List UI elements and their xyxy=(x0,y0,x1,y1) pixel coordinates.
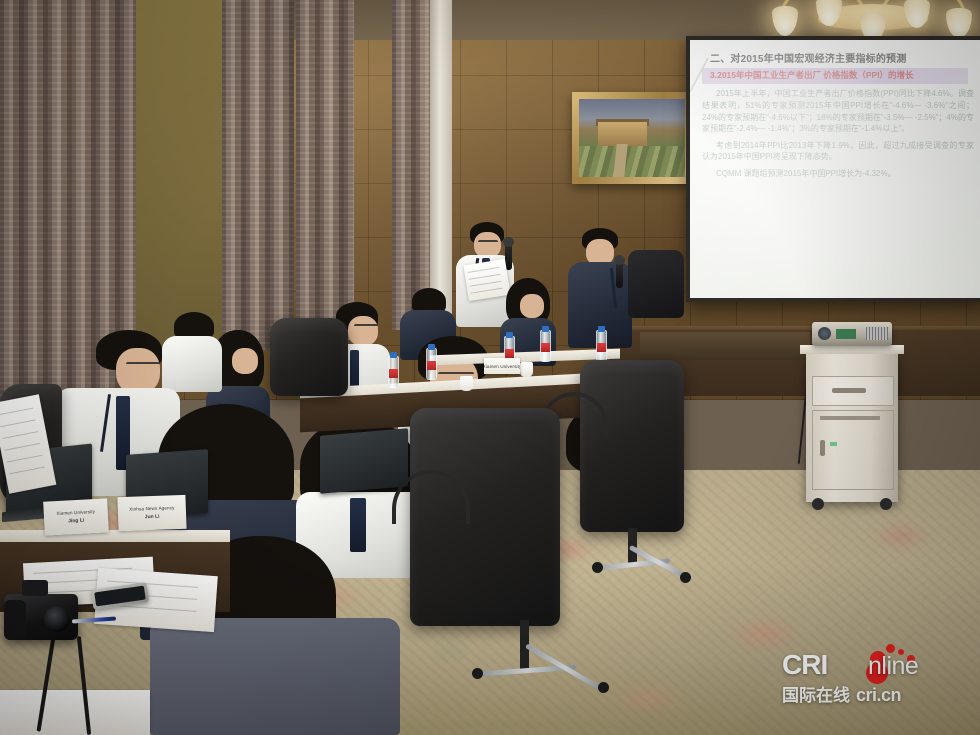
av-cart xyxy=(806,352,898,502)
curtain-middle-2 xyxy=(296,0,354,340)
conference-room-photo: 二、对2015年中国宏观经济主要指标的预测 3.2015年中国工业生产者出厂 价… xyxy=(0,0,980,735)
paper-cup xyxy=(520,362,533,377)
water-bottle xyxy=(596,330,607,362)
slide-heading: 二、对2015年中国宏观经济主要指标的预测 xyxy=(710,50,976,65)
slide-section-band: 3.2015年中国工业生产者出厂 价格指数（PPI）的增长 xyxy=(702,68,968,84)
chair-wheel xyxy=(598,682,609,693)
curtain-middle xyxy=(222,0,294,350)
chandelier-bulb xyxy=(946,8,972,38)
laptop[interactable] xyxy=(320,428,408,494)
desk-documents xyxy=(0,690,150,735)
framed-landscape-painting xyxy=(572,92,692,184)
slide-paragraph-3: CQMM 课题组预测2015年中国PPI增长为-4.32%。 xyxy=(702,168,974,180)
chair-wheel xyxy=(472,668,483,679)
chair-wheel xyxy=(680,572,691,583)
handheld-microphone[interactable] xyxy=(616,262,623,288)
namecard-name: Jing Li xyxy=(68,518,84,525)
namecard-rear: Xiamen University xyxy=(484,358,520,374)
chandelier-bulb xyxy=(772,6,798,36)
namecard-xiamen-university: Xiamen University Jing Li xyxy=(43,498,109,535)
water-bottle xyxy=(388,356,399,388)
water-bottle xyxy=(540,330,551,362)
namecard-org: Xiamen University xyxy=(56,509,95,516)
paper-cup xyxy=(460,376,473,391)
projector-lens xyxy=(818,327,831,340)
backpack-on-chair xyxy=(628,250,684,318)
wall-panel xyxy=(136,0,226,350)
chair-wheel xyxy=(592,562,603,573)
watermark-brand-cri: CRI xyxy=(782,649,827,681)
eyeglasses xyxy=(126,362,160,368)
namecard-org: Xinhua News Agency xyxy=(129,505,174,512)
projector xyxy=(812,322,892,346)
slide-paragraph-2: 考虑到2014年PPI比2013年下降1.9%，因此，超过九成接受调查的专家认为… xyxy=(702,140,974,163)
namecard-org: Xiamen University xyxy=(484,364,520,369)
watermark-brand-online: nline xyxy=(868,652,918,681)
watermark-chinese: 国际在线 xyxy=(782,681,850,706)
namecard-xinhua-news-agency: Xinhua News Agency Jun Li xyxy=(117,495,186,531)
dslr-camera[interactable] xyxy=(4,594,78,640)
side-counter xyxy=(640,332,810,360)
cri-online-watermark: CRI nline 国际在线 cri.cn xyxy=(782,648,972,710)
slide-paragraph-1: 2015年上半年，中国工业生产者出厂价格指数(PPI)同比下降4.6%。调查结果… xyxy=(702,88,974,134)
office-chair[interactable] xyxy=(270,318,348,396)
namecard-name: Jun Li xyxy=(145,514,160,521)
speaker-papers xyxy=(463,259,510,301)
projected-slide: 二、对2015年中国宏观经济主要指标的预测 3.2015年中国工业生产者出厂 价… xyxy=(690,40,980,298)
office-chair[interactable] xyxy=(580,360,684,532)
watermark-url: cri.cn xyxy=(856,685,901,706)
projection-screen: 二、对2015年中国宏观经济主要指标的预测 3.2015年中国工业生产者出厂 价… xyxy=(686,36,980,302)
slide-body: 2015年上半年，中国工业生产者出厂价格指数(PPI)同比下降4.6%。调查结果… xyxy=(700,88,976,179)
water-bottle xyxy=(426,348,437,380)
